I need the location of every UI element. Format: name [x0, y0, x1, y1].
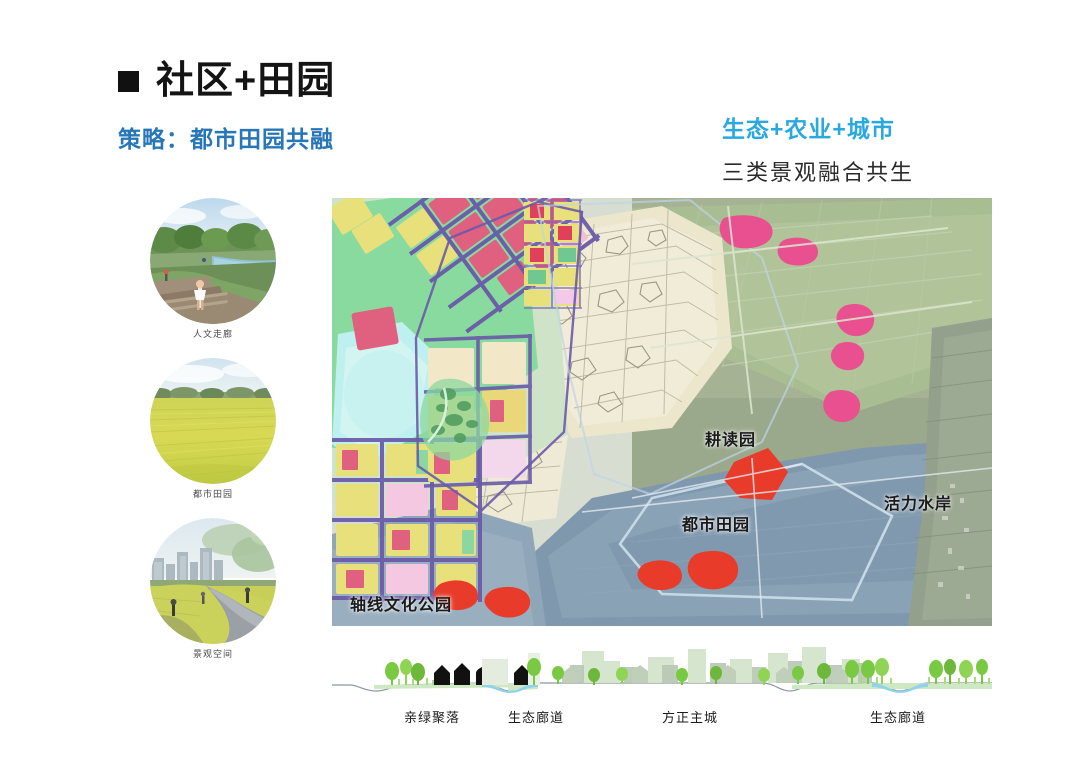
- square-bullet-icon: [118, 71, 139, 92]
- map-label-urban-farmland: 都市田园: [682, 511, 750, 535]
- concept-heading: 生态+农业+城市: [722, 110, 895, 144]
- map-label-axis-culture-park: 轴线文化公园: [350, 591, 452, 615]
- page-title-row: 社区+田园: [118, 62, 335, 100]
- slide-canvas: 社区+田园 策略：都市田园共融 生态+农业+城市 三类景观融合共生: [0, 0, 1080, 764]
- page-title: 社区+田园: [156, 62, 335, 100]
- photo-circle-urban-farmland: [150, 358, 276, 484]
- map-label-waterfront-ne: 活力水岸: [884, 490, 952, 514]
- section-diagram: 亲绿聚落 生态廊道 方正主城 生态廊道: [332, 645, 992, 705]
- section-label-main-city: 方正主城: [662, 707, 718, 726]
- riverside-boardwalk-photo: [150, 198, 276, 324]
- map-label-gengduyuan: 耕读园: [705, 426, 756, 450]
- photo-circle-humanistic-corridor: [150, 198, 276, 324]
- city-skyline-greenway-photo: [150, 518, 276, 644]
- photo-item: 景观空间: [150, 518, 276, 660]
- section-label-green-settlement: 亲绿聚落: [404, 707, 460, 726]
- photo-caption: 都市田园: [150, 487, 276, 500]
- rice-field-photo: [150, 358, 276, 484]
- master-plan-map[interactable]: 耕读园 活力水岸 都市田园 轴线文化公园 活力水岸 活力水岸 湿地公园: [332, 198, 992, 626]
- concept-subheading: 三类景观融合共生: [722, 155, 914, 187]
- strategy-subtitle: 策略：都市田园共融: [118, 120, 334, 154]
- photo-item: 人文走廊: [150, 198, 276, 340]
- section-label-eco-corridor-east: 生态廊道: [870, 707, 926, 726]
- section-label-eco-corridor-west: 生态廊道: [508, 707, 564, 726]
- photo-column: 人文走廊: [150, 198, 280, 678]
- photo-caption: 景观空间: [150, 647, 276, 660]
- section-graphic: [332, 645, 992, 705]
- photo-caption: 人文走廊: [150, 327, 276, 340]
- photo-item: 都市田园: [150, 358, 276, 500]
- map-graphic: [332, 198, 992, 626]
- photo-circle-landscape-space: [150, 518, 276, 644]
